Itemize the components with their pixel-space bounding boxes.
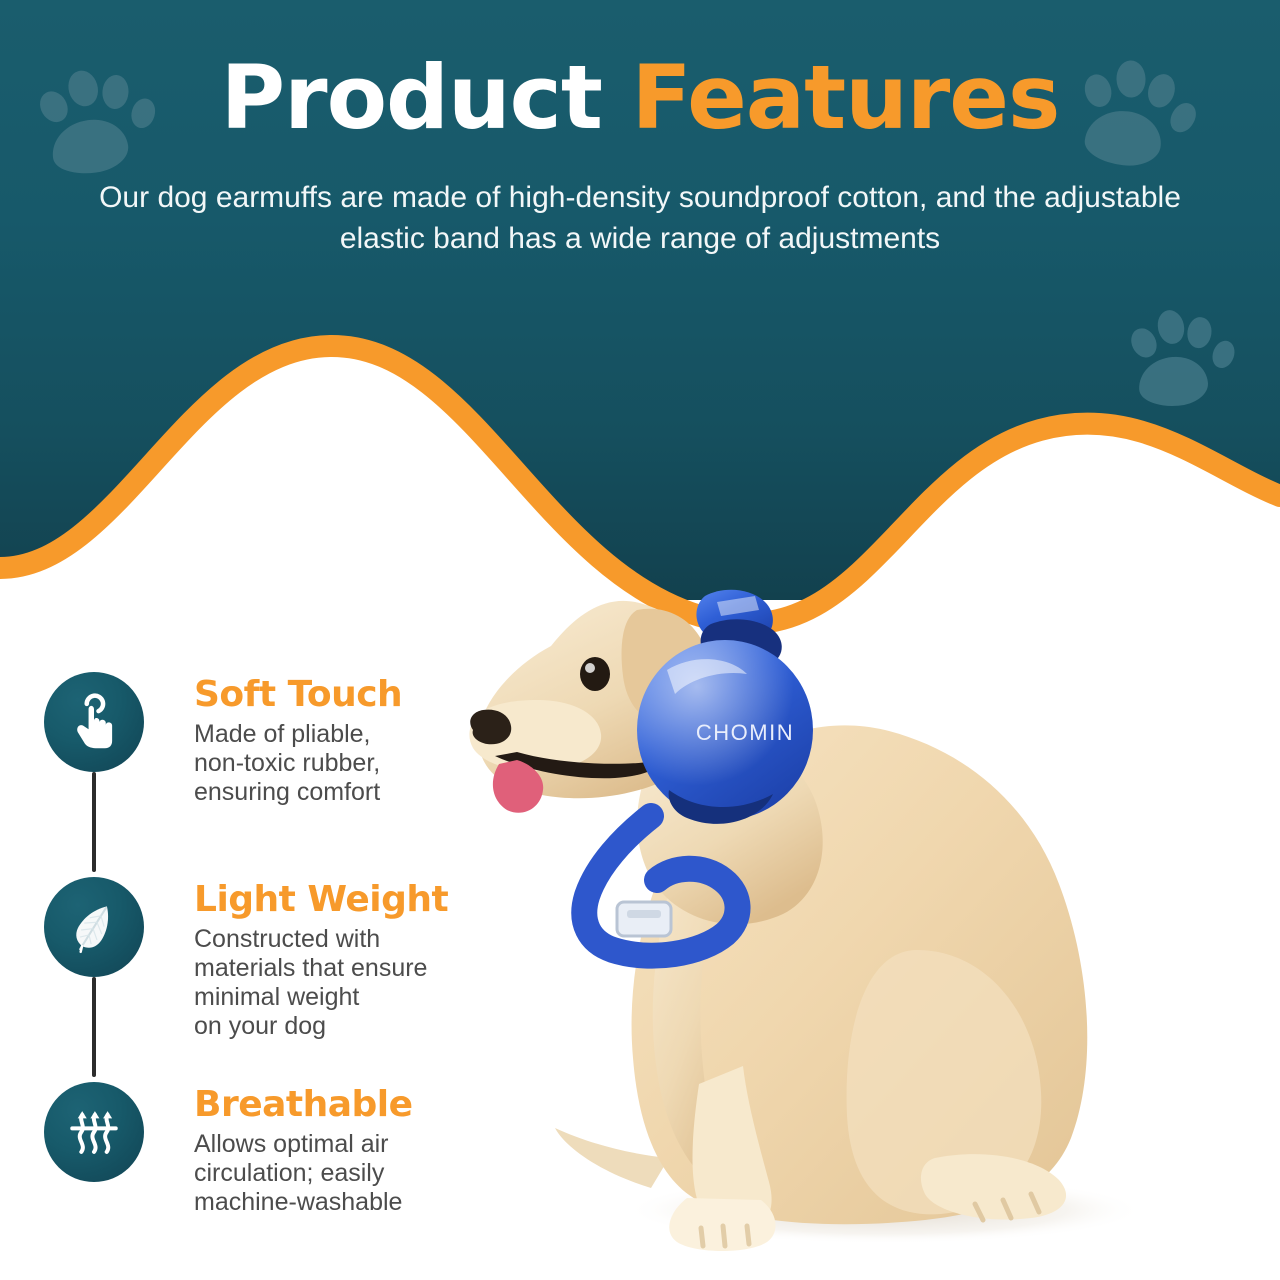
buckle-slot [627, 910, 661, 918]
feather-icon [44, 877, 144, 977]
feature-list: Soft Touch Made of pliable, non-toxic ru… [44, 672, 564, 1217]
feature-icon-column [44, 672, 194, 877]
feature-text-column: Light Weight Constructed with materials … [194, 877, 448, 1041]
feature-description: Made of pliable, non-toxic rubber, ensur… [194, 720, 402, 807]
feature-icon-column [44, 1082, 194, 1182]
feature-text-column: Breathable Allows optimal air circulatio… [194, 1082, 413, 1217]
product-photo-dog-wearing-earmuffs: CHOMIN [455, 498, 1245, 1280]
feature-item-soft-touch: Soft Touch Made of pliable, non-toxic ru… [44, 672, 564, 877]
dog-eye-highlight [585, 663, 595, 673]
air-circulation-icon [44, 1082, 144, 1182]
page-subtitle: Our dog earmuffs are made of high-densit… [0, 178, 1280, 259]
feature-text-column: Soft Touch Made of pliable, non-toxic ru… [194, 672, 402, 807]
strap-buckle [617, 902, 671, 936]
page-title-accent: Features [632, 46, 1060, 149]
dog-eye [580, 657, 610, 691]
page-title-primary: Product [221, 46, 632, 149]
brand-label: CHOMIN [696, 720, 794, 745]
feature-item-breathable: Breathable Allows optimal air circulatio… [44, 1082, 564, 1217]
feature-icon-column [44, 877, 194, 1082]
feature-title: Breathable [194, 1086, 413, 1124]
feature-connector-line [92, 772, 96, 872]
air-circulation-glyph [65, 1103, 123, 1161]
feature-title: Soft Touch [194, 676, 402, 714]
hand-tap-icon [44, 672, 144, 772]
feather-glyph [64, 897, 124, 957]
hand-tap-glyph [65, 693, 123, 751]
feature-item-light-weight: Light Weight Constructed with materials … [44, 877, 564, 1082]
page-title: Product Features [0, 52, 1280, 144]
feature-description: Allows optimal air circulation; easily m… [194, 1130, 413, 1217]
feature-title: Light Weight [194, 881, 448, 919]
feature-description: Constructed with materials that ensure m… [194, 925, 448, 1041]
infographic-canvas: Product Features Our dog earmuffs are ma… [0, 0, 1280, 1280]
feature-connector-line [92, 977, 96, 1077]
